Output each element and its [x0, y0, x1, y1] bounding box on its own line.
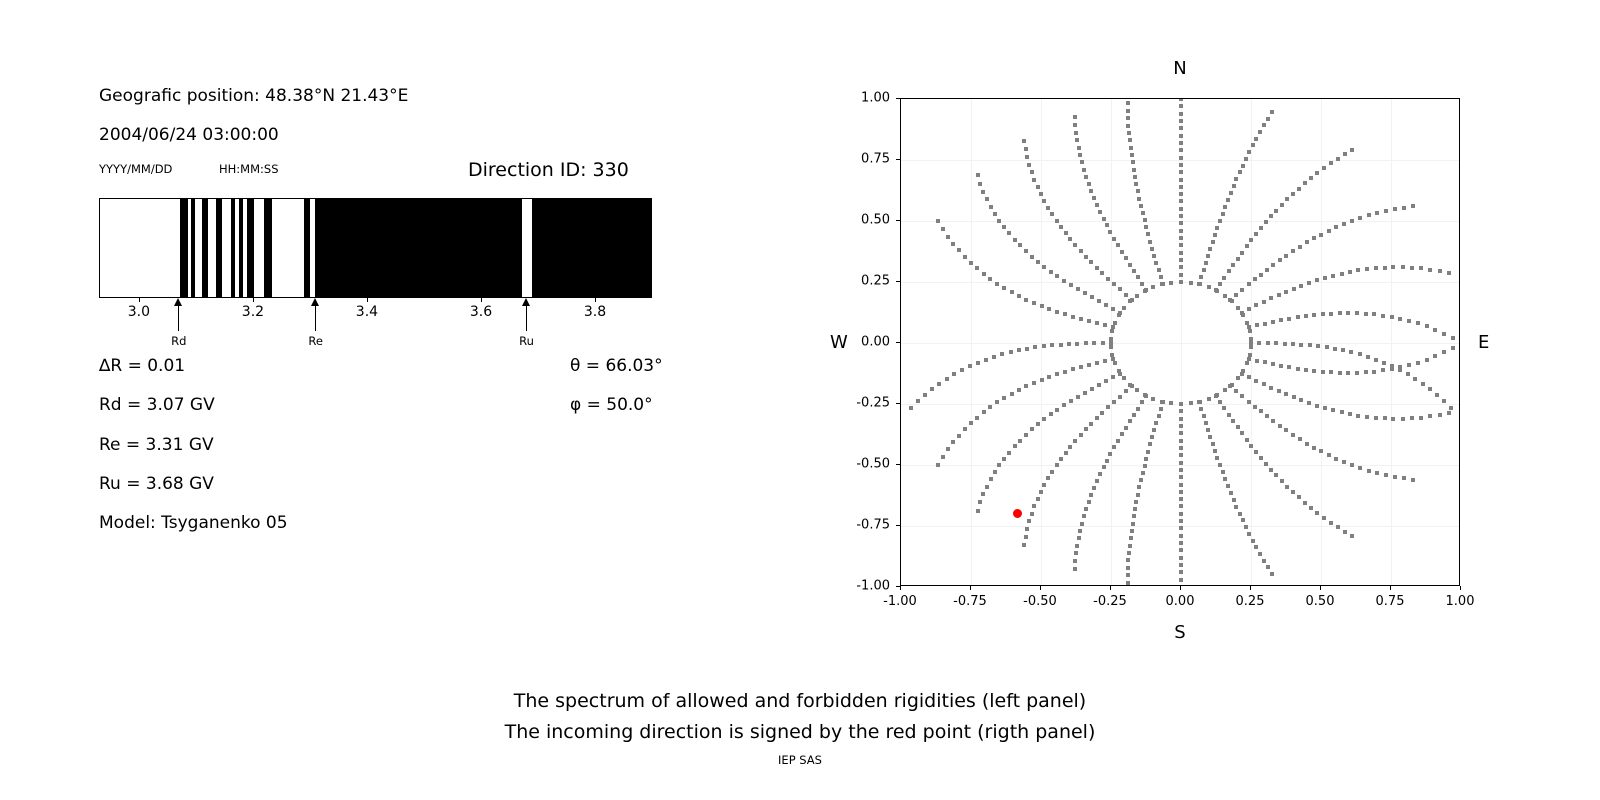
- direction-dot: [1139, 478, 1143, 482]
- direction-dot: [1179, 483, 1183, 487]
- axis-tick: [139, 298, 140, 302]
- direction-dot: [1307, 401, 1311, 405]
- direction-dot: [1229, 491, 1233, 495]
- param-theta: θ = 66.03°: [570, 356, 663, 376]
- direction-dot: [1333, 347, 1337, 351]
- direction-dot: [1131, 160, 1135, 164]
- direction-dot: [1150, 247, 1154, 251]
- direction-dot: [1084, 427, 1088, 431]
- direction-dot: [982, 272, 986, 276]
- direction-dot: [957, 434, 961, 438]
- direction-dot: [1255, 323, 1259, 327]
- direction-dot: [1179, 214, 1183, 218]
- direction-dot: [1152, 428, 1156, 432]
- direction-dot: [1179, 192, 1183, 196]
- inner-ring-dot: [1151, 397, 1155, 401]
- direction-dot: [1254, 450, 1258, 454]
- time-format-hint: HH:MM:SS: [219, 162, 279, 176]
- x-axis-tick-label: 0.00: [1166, 594, 1195, 609]
- direction-dot: [1007, 451, 1011, 455]
- x-axis-tick: [1320, 586, 1321, 590]
- direction-dot: [1046, 206, 1050, 210]
- direction-dot: [1039, 192, 1043, 196]
- direction-dot: [975, 416, 979, 420]
- direction-dot: [1030, 427, 1034, 431]
- direction-dot: [1238, 170, 1242, 174]
- direction-dot: [1179, 251, 1183, 255]
- direction-dot: [1451, 336, 1455, 340]
- direction-dot: [1075, 138, 1079, 142]
- inner-ring-dot: [1189, 401, 1193, 405]
- direction-dot: [978, 182, 982, 186]
- axis-tick-label: 3.6: [470, 304, 492, 320]
- direction-dot: [1208, 435, 1212, 439]
- direction-dot: [1179, 475, 1183, 479]
- direction-dot: [1299, 343, 1303, 347]
- direction-dot: [1080, 522, 1084, 526]
- direction-dot: [1036, 185, 1040, 189]
- direction-dot: [1291, 249, 1295, 253]
- direction-dot: [1131, 522, 1135, 526]
- direction-dot: [1033, 345, 1037, 349]
- direction-dot: [1391, 417, 1395, 421]
- x-axis-tick-label: 0.50: [1306, 594, 1335, 609]
- direction-dot: [1323, 406, 1327, 410]
- direction-dot: [1084, 255, 1088, 259]
- direction-dot: [1055, 274, 1059, 278]
- gridline-vertical: [1041, 99, 1042, 585]
- direction-dot: [1089, 189, 1093, 193]
- inner-ring-dot: [1122, 376, 1126, 380]
- inner-ring-dot: [1109, 345, 1113, 349]
- direction-dot: [1322, 166, 1326, 170]
- direction-dot: [1025, 155, 1029, 159]
- direction-dot: [1274, 209, 1278, 213]
- direction-dot: [1383, 416, 1387, 420]
- inner-ring-dot: [1248, 353, 1252, 357]
- direction-dot: [1416, 361, 1420, 365]
- direction-dot: [1087, 500, 1091, 504]
- direction-dot: [1346, 311, 1350, 315]
- y-axis-tick-label: 0.00: [834, 335, 890, 350]
- direction-dot: [1179, 556, 1183, 560]
- direction-dot: [1270, 110, 1274, 114]
- direction-dot: [1055, 219, 1059, 223]
- direction-dot: [1249, 238, 1253, 242]
- direction-dot: [1238, 512, 1242, 516]
- inner-ring-dot: [1109, 337, 1113, 341]
- direction-dot: [1148, 240, 1152, 244]
- direction-dot: [1338, 311, 1342, 315]
- inner-ring-dot: [1117, 313, 1121, 317]
- direction-dot: [1278, 424, 1282, 428]
- direction-dot: [1002, 225, 1006, 229]
- direction-dot: [1315, 171, 1319, 175]
- x-axis-tick-label: 0.25: [1236, 594, 1265, 609]
- inner-ring-dot: [1110, 329, 1114, 333]
- direction-dot: [1042, 265, 1046, 269]
- direction-dot: [1017, 294, 1021, 298]
- direction-dot: [1213, 449, 1217, 453]
- direction-dot: [1179, 98, 1183, 101]
- direction-dot: [1126, 581, 1130, 585]
- direction-dot: [1223, 205, 1227, 209]
- direction-dot: [1303, 501, 1307, 505]
- direction-dot: [1074, 131, 1078, 135]
- direction-dot: [1179, 512, 1183, 516]
- direction-dot: [1089, 493, 1093, 497]
- direction-dot: [1283, 342, 1287, 346]
- x-axis-tick: [1040, 586, 1041, 590]
- inner-ring-dot: [1189, 281, 1193, 285]
- direction-dot: [1374, 358, 1378, 362]
- direction-dot: [1269, 468, 1273, 472]
- direction-dot: [1179, 258, 1183, 262]
- direction-dot: [1079, 365, 1083, 369]
- direction-dot: [1274, 473, 1278, 477]
- direction-dot: [1082, 514, 1086, 518]
- direction-dot: [1075, 544, 1079, 548]
- direction-dot: [1329, 161, 1333, 165]
- direction-dot: [1092, 341, 1096, 345]
- direction-dot: [1090, 387, 1094, 391]
- direction-dot: [989, 205, 993, 209]
- axis-tick-label: 3.2: [242, 304, 264, 320]
- direction-dot: [1179, 417, 1183, 421]
- direction-dot: [1428, 414, 1432, 418]
- direction-dot: [1218, 400, 1222, 404]
- direction-dot: [1211, 442, 1215, 446]
- direction-dot: [1398, 317, 1402, 321]
- direction-dot: [1299, 398, 1303, 402]
- direction-dot: [1022, 543, 1026, 547]
- rigidity-spectrum-panel: Geografic position: 48.38°N 21.43°E 2004…: [0, 0, 800, 660]
- direction-dot: [1329, 521, 1333, 525]
- direction-dot: [976, 173, 980, 177]
- direction-dot: [1132, 413, 1136, 417]
- direction-dot: [1447, 411, 1451, 415]
- axis-tick: [367, 298, 368, 302]
- direction-dot: [1262, 300, 1266, 304]
- direction-dot: [1030, 255, 1034, 259]
- allowed-band: [522, 199, 532, 297]
- direction-dot: [1120, 250, 1124, 254]
- direction-dot: [1055, 372, 1059, 376]
- direction-dot: [1179, 468, 1183, 472]
- direction-dot: [1279, 364, 1283, 368]
- direction-dot: [1127, 551, 1131, 555]
- direction-dot: [1411, 478, 1415, 482]
- direction-dot: [1144, 457, 1148, 461]
- direction-dot: [1292, 395, 1296, 399]
- direction-dot: [1372, 370, 1376, 374]
- figure-caption: The spectrum of allowed and forbidden ri…: [0, 686, 1600, 748]
- direction-dot: [1179, 119, 1183, 123]
- direction-dot: [1391, 265, 1395, 269]
- direction-dot: [1179, 578, 1183, 582]
- inner-ring-dot: [1135, 294, 1139, 298]
- direction-dot: [1287, 365, 1291, 369]
- direction-dot: [1179, 526, 1183, 530]
- direction-dot: [1449, 406, 1453, 410]
- direction-dot: [1073, 567, 1077, 571]
- y-axis-tick: [896, 281, 900, 282]
- direction-dot: [1375, 211, 1379, 215]
- direction-dot: [1092, 196, 1096, 200]
- direction-dot: [1002, 396, 1006, 400]
- direction-dot: [1299, 284, 1303, 288]
- direction-dot: [1258, 130, 1262, 134]
- direction-dot: [1136, 407, 1140, 411]
- direction-dot: [1356, 414, 1360, 418]
- direction-dot: [1179, 148, 1183, 152]
- direction-dot: [1204, 421, 1208, 425]
- direction-dot: [951, 242, 955, 246]
- direction-dot: [1227, 269, 1231, 273]
- direction-dot: [1292, 287, 1296, 291]
- direction-dot: [1179, 185, 1183, 189]
- direction-dot: [1140, 400, 1144, 404]
- direction-dot: [1303, 181, 1307, 185]
- forbidden-band: [315, 199, 652, 297]
- forbidden-band: [191, 199, 195, 297]
- x-axis-tick-label: -0.25: [1093, 594, 1127, 609]
- direction-dot: [1179, 221, 1183, 225]
- direction-dot: [1364, 370, 1368, 374]
- direction-dot: [1459, 341, 1460, 345]
- direction-dot: [1179, 431, 1183, 435]
- direction-dot: [1063, 312, 1067, 316]
- direction-dot: [1407, 319, 1411, 323]
- direction-dot: [1116, 439, 1120, 443]
- direction-dot: [1254, 379, 1258, 383]
- direction-dot: [1179, 563, 1183, 567]
- y-axis-tick: [896, 342, 900, 343]
- y-axis-tick-label: -0.50: [834, 457, 890, 472]
- direction-dot: [1087, 319, 1091, 323]
- direction-dot: [1049, 270, 1053, 274]
- y-axis-tick: [896, 525, 900, 526]
- direction-dot: [923, 393, 927, 397]
- direction-dot: [1285, 485, 1289, 489]
- param-ru: Ru = 3.68 GV: [99, 474, 214, 494]
- direction-dot: [1069, 399, 1073, 403]
- direction-dot: [1204, 261, 1208, 265]
- direction-dot: [1274, 341, 1278, 345]
- direction-dot: [1124, 426, 1128, 430]
- direction-dot: [1179, 446, 1183, 450]
- inner-ring-dot: [1128, 299, 1132, 303]
- direction-dot: [1325, 345, 1329, 349]
- direction-dot: [1304, 314, 1308, 318]
- direction-dot: [1095, 266, 1099, 270]
- direction-dot: [1247, 150, 1251, 154]
- direction-dot: [1231, 263, 1235, 267]
- direction-dot: [1146, 450, 1150, 454]
- inner-ring-dot: [1169, 281, 1173, 285]
- direction-dot: [1137, 485, 1141, 489]
- direction-dot: [1084, 175, 1088, 179]
- direction-dot: [1040, 304, 1044, 308]
- direction-dot: [1073, 115, 1077, 119]
- direction-dot: [1112, 400, 1116, 404]
- direction-dot: [1062, 279, 1066, 283]
- param-delta-r: ∆R = 0.01: [99, 356, 185, 376]
- direction-dot: [1413, 377, 1417, 381]
- direction-dot: [1179, 126, 1183, 130]
- direction-dot: [1032, 504, 1036, 508]
- direction-dot: [1179, 534, 1183, 538]
- direction-dot: [1425, 358, 1429, 362]
- direction-dot: [1202, 414, 1206, 418]
- direction-dot: [1179, 229, 1183, 233]
- direction-dot: [1401, 265, 1405, 269]
- direction-dot: [1179, 504, 1183, 508]
- direction-dot: [1179, 265, 1183, 269]
- direction-dot: [1384, 209, 1388, 213]
- direction-dot: [1305, 240, 1309, 244]
- direction-dot: [1111, 307, 1115, 311]
- direction-dot: [1022, 139, 1026, 143]
- direction-dot: [1129, 536, 1133, 540]
- direction-dot: [1255, 359, 1259, 363]
- direction-dot: [1266, 565, 1270, 569]
- direction-dot: [1097, 383, 1101, 387]
- direction-dot: [1036, 422, 1040, 426]
- direction-dot: [1013, 238, 1017, 242]
- direction-dot: [1340, 272, 1344, 276]
- direction-dot: [1179, 112, 1183, 116]
- direction-id-text: Direction ID: 330: [468, 159, 629, 181]
- direction-dot: [1126, 109, 1130, 113]
- direction-dot: [1280, 203, 1284, 207]
- direction-dot: [1017, 388, 1021, 392]
- direction-dot: [1315, 278, 1319, 282]
- direction-dot: [1349, 350, 1353, 354]
- cutoff-marker-arrow-re: [304, 298, 328, 332]
- direction-dot: [1042, 417, 1046, 421]
- direction-dot: [1150, 435, 1154, 439]
- direction-dot: [1287, 317, 1291, 321]
- direction-dot: [1218, 463, 1222, 467]
- direction-dot: [1063, 370, 1067, 374]
- direction-dot: [992, 355, 996, 359]
- direction-dot: [1095, 416, 1099, 420]
- date-format-hint: YYYY/MM/DD: [99, 162, 172, 176]
- inner-ring-dot: [1122, 306, 1126, 310]
- direction-dot: [1358, 352, 1362, 356]
- inner-ring-dot: [1198, 400, 1202, 404]
- direction-dot: [1032, 301, 1036, 305]
- direction-dot: [1064, 231, 1068, 235]
- direction-dot: [969, 261, 973, 265]
- x-axis-tick-label: 0.75: [1376, 594, 1405, 609]
- direction-dot: [1095, 479, 1099, 483]
- direction-dot: [1079, 317, 1083, 321]
- direction-dot: [946, 447, 950, 451]
- direction-dot: [1098, 210, 1102, 214]
- direction-dot: [1271, 362, 1275, 366]
- direction-dot: [1254, 137, 1258, 141]
- direction-dot: [1127, 131, 1131, 135]
- direction-dot: [1234, 389, 1238, 393]
- cutoff-marker-label-re: Re: [308, 334, 323, 348]
- direction-dot: [1105, 223, 1109, 227]
- direction-dot: [1321, 312, 1325, 316]
- direction-dot: [1374, 266, 1378, 270]
- direction-dot: [951, 440, 955, 444]
- direction-dot: [916, 399, 920, 403]
- direction-dot: [1425, 324, 1429, 328]
- direction-dot: [1078, 529, 1082, 533]
- direction-dot: [1084, 341, 1088, 345]
- direction-dot: [1304, 368, 1308, 372]
- direction-dot: [1050, 212, 1054, 216]
- direction-dot: [1222, 276, 1226, 280]
- direction-dot: [1438, 413, 1442, 417]
- direction-dot: [1032, 178, 1036, 182]
- direction-dot: [1211, 240, 1215, 244]
- direction-dot: [1284, 428, 1288, 432]
- direction-dot: [1271, 419, 1275, 423]
- direction-dot: [1264, 462, 1268, 466]
- direction-dot: [1090, 295, 1094, 299]
- inner-ring-dot: [1245, 321, 1249, 325]
- compass-north-label: N: [1173, 58, 1186, 79]
- direction-dot: [1059, 343, 1063, 347]
- direction-dot: [1179, 424, 1183, 428]
- direction-dot: [1236, 257, 1240, 261]
- direction-dot: [1218, 282, 1222, 286]
- direction-dot: [1277, 389, 1281, 393]
- direction-dot: [1133, 175, 1137, 179]
- direction-dot: [1047, 375, 1051, 379]
- direction-dot: [1416, 321, 1420, 325]
- y-axis-tick-label: 1.00: [834, 91, 890, 106]
- y-axis-tick: [896, 403, 900, 404]
- direction-dot: [1179, 548, 1183, 552]
- direction-dot: [1136, 275, 1140, 279]
- direction-dot: [1130, 529, 1134, 533]
- direction-dot: [1024, 298, 1028, 302]
- asymptotic-direction-panel: N S W E 1.000.750.500.250.00-0.25-0.50-0…: [800, 0, 1600, 660]
- x-axis-tick: [970, 586, 971, 590]
- direction-dot: [1251, 143, 1255, 147]
- direction-dot: [1062, 403, 1066, 407]
- direction-dot: [1206, 254, 1210, 258]
- direction-dot: [1134, 182, 1138, 186]
- direction-dot: [1134, 500, 1138, 504]
- y-axis-tick-label: 0.25: [834, 274, 890, 289]
- direction-dot: [1027, 519, 1031, 523]
- direction-dot: [1106, 277, 1110, 281]
- direction-dot: [1241, 518, 1245, 522]
- direction-dot: [1059, 225, 1063, 229]
- direction-dot: [1128, 138, 1132, 142]
- x-axis-tick: [1390, 586, 1391, 590]
- direction-dot: [1435, 393, 1439, 397]
- direction-dot: [1433, 354, 1437, 358]
- direction-dot: [1084, 507, 1088, 511]
- direction-dot: [1254, 232, 1258, 236]
- direction-dot: [1068, 237, 1072, 241]
- direction-dot: [1312, 313, 1316, 317]
- direction-dot: [995, 282, 999, 286]
- direction-dot: [1398, 365, 1402, 369]
- gridline-vertical: [971, 99, 972, 585]
- direction-dot: [1076, 287, 1080, 291]
- inner-ring-dot: [1236, 306, 1240, 310]
